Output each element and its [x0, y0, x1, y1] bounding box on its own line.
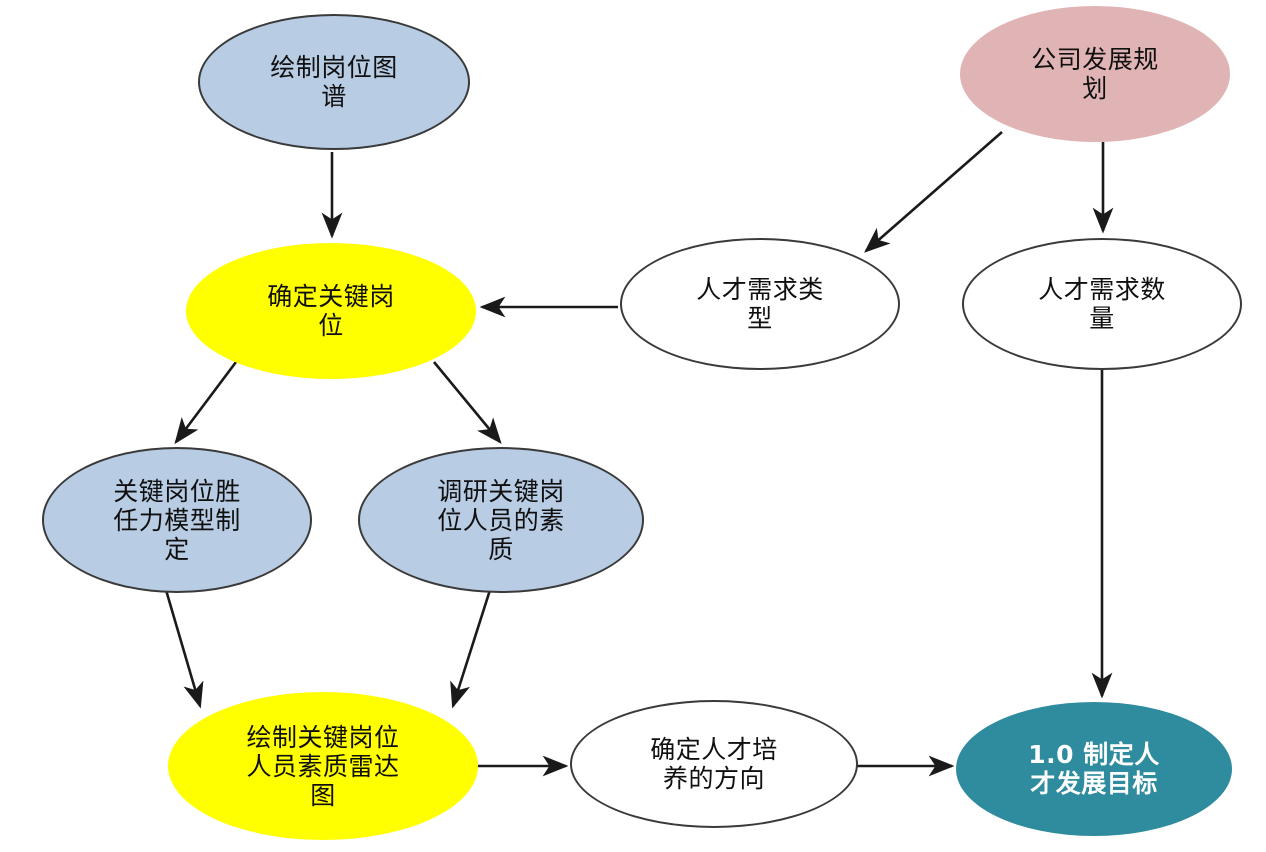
node-label: 关键岗位胜 任力模型制 定: [68, 477, 286, 564]
node-draw-quality-radar-chart[interactable]: 绘制关键岗位 人员素质雷达 图: [168, 692, 478, 840]
node-label: 调研关键岗 位人员的素 质: [385, 477, 616, 564]
node-label: 公司发展规 划: [984, 45, 1205, 103]
node-identify-key-positions[interactable]: 确定关键岗 位: [186, 243, 476, 379]
edge-plan-to-demand-type: [866, 132, 1002, 251]
node-draw-position-map[interactable]: 绘制岗位图 谱: [198, 14, 470, 150]
edge-key-positions-to-research: [434, 362, 500, 442]
node-company-development-plan[interactable]: 公司发展规 划: [960, 6, 1230, 142]
node-set-talent-development-goal[interactable]: 1.0 制定人 才发展目标: [956, 702, 1232, 836]
node-label: 绘制岗位图 谱: [224, 53, 444, 111]
node-label: 绘制关键岗位 人员素质雷达 图: [196, 723, 450, 810]
node-label: 人才需求类 型: [647, 275, 873, 333]
node-label: 确定人才培 养的方向: [598, 735, 831, 793]
node-talent-demand-type[interactable]: 人才需求类 型: [620, 238, 900, 370]
node-label: 人才需求数 量: [989, 275, 1215, 333]
edge-key-positions-to-competency-model: [176, 362, 236, 442]
node-research-personnel-quality[interactable]: 调研关键岗 位人员的素 质: [358, 447, 644, 593]
flowchart-canvas: 绘制岗位图 谱公司发展规 划确定关键岗 位人才需求类 型人才需求数 量关键岗位胜…: [0, 0, 1266, 852]
node-label: 1.0 制定人 才发展目标: [982, 740, 1205, 798]
node-label: 确定关键岗 位: [212, 282, 450, 340]
edge-research-to-radar: [453, 590, 490, 706]
edge-competency-model-to-radar: [166, 590, 200, 706]
node-talent-demand-quantity[interactable]: 人才需求数 量: [962, 238, 1242, 370]
node-determine-training-direction[interactable]: 确定人才培 养的方向: [570, 700, 858, 828]
node-key-position-competency-model[interactable]: 关键岗位胜 任力模型制 定: [42, 447, 312, 593]
